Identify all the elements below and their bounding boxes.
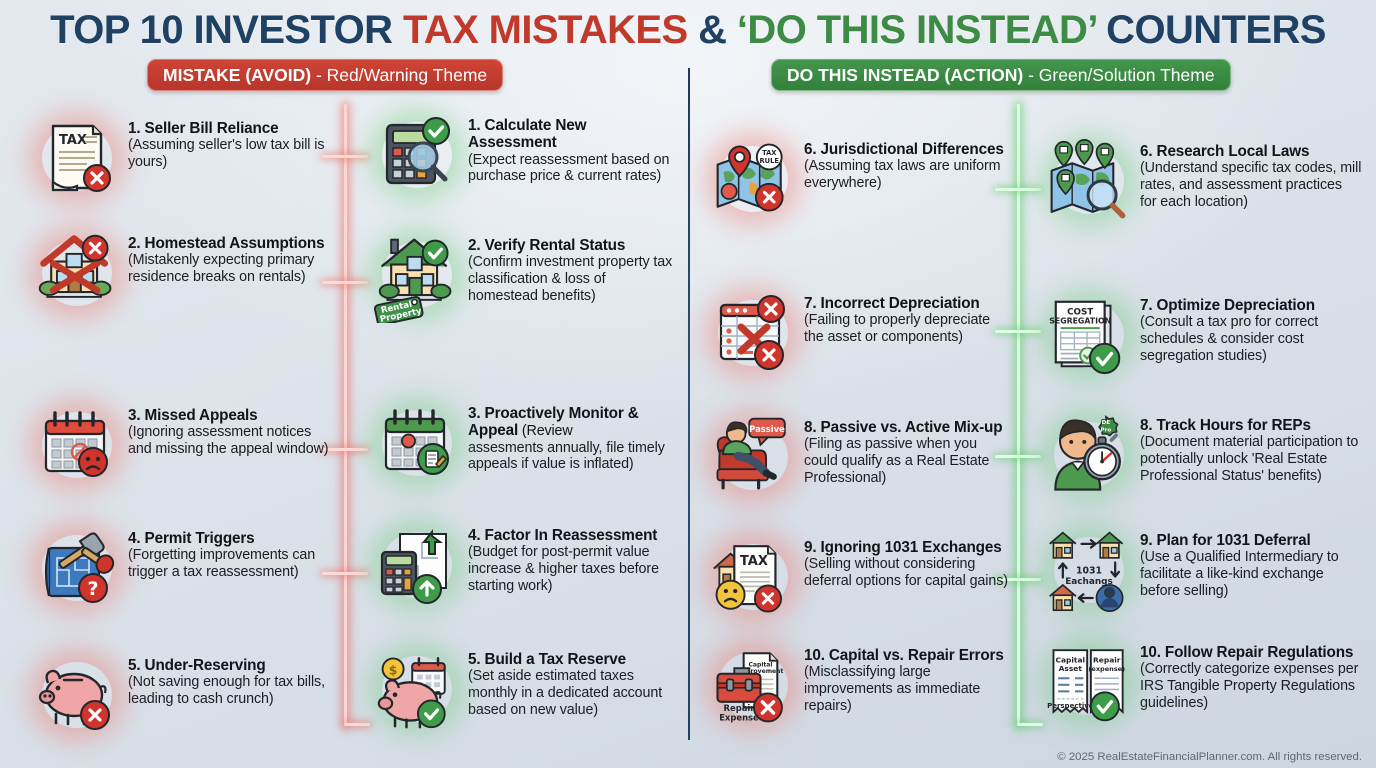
mistake-9-sub: (Selling without considering deferral op…: [804, 556, 1010, 589]
action-item-8[interactable]: DE Pro 8. Track Hours for REPs (Document…: [1046, 412, 1362, 498]
action-3-heading: 3. Proactively Monitor & Appeal (Review: [468, 405, 674, 440]
svg-text:Asset: Asset: [1059, 664, 1083, 673]
map-multi-pin-magnifier-icon: [1046, 138, 1132, 224]
action-9-heading: 9. Plan for 1031 Deferral: [1140, 532, 1362, 549]
mistake-2-sub: (Mistakenly expecting primary residence …: [128, 252, 334, 285]
mistake-10-sub: (Misclassifying large improvements as im…: [804, 664, 1010, 714]
blueprint-hammer-icon: ?: [34, 525, 120, 611]
mistake-4-sub: (Forgetting improvements can trigger a t…: [128, 547, 334, 580]
piggy-bank-icon: [34, 652, 120, 738]
calendar-icon: [34, 402, 120, 488]
mistake-4-text: 4. Permit Triggers (Forgetting improveme…: [128, 525, 334, 581]
action-7-sub: (Consult a tax pro for correct schedules…: [1140, 314, 1362, 364]
person-in-recliner-icon: Passive: [710, 414, 796, 500]
action-item-7[interactable]: COST SEGREGATION: [1046, 292, 1362, 378]
crossed-out-house-icon: [34, 230, 120, 316]
svg-text:Eachangs: Eachangs: [1065, 577, 1113, 587]
svg-text:Repair: Repair: [1093, 655, 1121, 664]
svg-text:Pro: Pro: [1100, 428, 1111, 434]
svg-text:Passive: Passive: [749, 424, 785, 434]
mistake-item-9[interactable]: TAX 9. Ignoring 1031 Exchanges (Selling …: [710, 534, 1010, 620]
title-part-amp: &: [688, 8, 737, 52]
mistake-7-text: 7. Incorrect Depreciation (Failing to pr…: [804, 290, 1010, 346]
action-6-text: 6. Research Local Laws (Understand speci…: [1140, 138, 1362, 210]
action-4-text: 4. Factor In Reassessment (Budget for po…: [468, 522, 674, 594]
svg-text:SEGREGATION: SEGREGATION: [1049, 316, 1111, 325]
banner-mistake-rest: - Red/Warning Theme: [311, 65, 487, 85]
title-part-instead: ‘DO THIS INSTEAD’: [737, 8, 1096, 52]
action-4-heading: 4. Factor In Reassessment: [468, 527, 674, 544]
svg-text:$: $: [389, 663, 398, 678]
svg-text:RULE: RULE: [760, 157, 780, 165]
mistake-6-heading: 6. Jurisdictional Differences: [804, 141, 1010, 158]
calculator-magnifier-icon: [374, 112, 460, 198]
action-3-heading-inline: (Review: [518, 423, 572, 439]
mistake-8-text: 8. Passive vs. Active Mix-up (Filing as …: [804, 414, 1010, 486]
calculator-blueprint-arrow-icon: [374, 522, 460, 608]
green-house-tag-icon: Rental Property: [374, 232, 460, 318]
action-6-heading: 6. Research Local Laws: [1140, 143, 1362, 160]
piggy-bank-coin-calendar-icon: $: [374, 646, 460, 732]
tax-document-house-icon: TAX: [710, 534, 796, 620]
mistake-3-sub: (Ignoring assessment notices and missing…: [128, 424, 334, 457]
action-8-sub: (Document material participation to pote…: [1140, 434, 1362, 484]
svg-text:(expense): (expense): [1088, 665, 1125, 673]
mistake-3-heading: 3. Missed Appeals: [128, 407, 334, 424]
mistake-item-5[interactable]: 5. Under-Reserving (Not saving enough fo…: [34, 652, 334, 738]
action-10-sub: (Correctly categorize expenses per IRS T…: [1140, 661, 1362, 711]
action-5-sub: (Set aside estimated taxes monthly in a …: [468, 668, 674, 718]
svg-text:DE: DE: [1102, 420, 1111, 426]
mistake-4-heading: 4. Permit Triggers: [128, 530, 334, 547]
mistake-9-text: 9. Ignoring 1031 Exchanges (Selling with…: [804, 534, 1010, 590]
mistake-item-4[interactable]: ? 4. Permit Triggers (Forgetting improve…: [34, 525, 334, 611]
action-1-text: 1. Calculate New Assessment (Expect reas…: [468, 112, 674, 185]
action-10-heading: 10. Follow Repair Regulations: [1140, 644, 1362, 661]
mistake-6-text: 6. Jurisdictional Differences (Assuming …: [804, 136, 1010, 192]
action-5-heading: 5. Build a Tax Reserve: [468, 651, 674, 668]
mistake-10-heading: 10. Capital vs. Repair Errors: [804, 647, 1010, 664]
mistake-2-text: 2. Homestead Assumptions (Mistakenly exp…: [128, 230, 334, 286]
green-calendar-note-icon: [374, 400, 460, 486]
page-title: TOP 10 INVESTOR TAX MISTAKES & ‘DO THIS …: [0, 0, 1376, 52]
toolbox-invoice-icon: Capital Improvement Repair Expense: [710, 642, 796, 728]
title-part-mistakes: TAX MISTAKES: [403, 8, 688, 52]
cost-segregation-document-icon: COST SEGREGATION: [1046, 292, 1132, 378]
mistake-5-sub: (Not saving enough for tax bills, leadin…: [128, 674, 334, 707]
tax-document-icon: TAX: [34, 115, 120, 201]
title-part-counters: COUNTERS: [1096, 8, 1326, 52]
action-item-5[interactable]: $: [374, 646, 674, 732]
action-2-text: 2. Verify Rental Status (Confirm investm…: [468, 232, 674, 304]
mistake-1-heading: 1. Seller Bill Reliance: [128, 120, 334, 137]
action-item-3[interactable]: 3. Proactively Monitor & Appeal (Review …: [374, 400, 674, 486]
svg-text:TAX: TAX: [740, 554, 768, 569]
action-4-sub: (Budget for post-permit value increase &…: [468, 544, 674, 594]
copyright-footer: © 2025 RealEstateFinancialPlanner.com. A…: [1057, 751, 1362, 763]
action-1-heading: 1. Calculate New Assessment: [468, 117, 674, 152]
action-item-1[interactable]: 1. Calculate New Assessment (Expect reas…: [374, 112, 674, 198]
action-10-text: 10. Follow Repair Regulations (Correctly…: [1140, 639, 1362, 711]
mistake-1-text: 1. Seller Bill Reliance (Assuming seller…: [128, 115, 334, 171]
action-9-text: 9. Plan for 1031 Deferral (Use a Qualifi…: [1140, 527, 1362, 599]
action-1-sub: (Expect reassessment based on purchase p…: [468, 152, 674, 185]
exchange-cycle-houses-icon: 1031 Eachangs: [1046, 527, 1132, 613]
mistake-10-text: 10. Capital vs. Repair Errors (Misclassi…: [804, 642, 1010, 714]
action-item-9[interactable]: 1031 Eachangs 9. Plan for 1031 Deferral …: [1046, 527, 1362, 613]
mistake-item-8[interactable]: Passive 8. Passive vs. Active Mix-up (Fi…: [710, 414, 1010, 500]
mistake-7-sub: (Failing to properly depreciate the asse…: [804, 312, 1010, 345]
banner-action-strong: DO THIS INSTEAD (ACTION): [787, 65, 1023, 85]
title-part-top10: TOP 10 INVESTOR: [50, 8, 403, 52]
action-3-sub: assesments annually, file timely appeals…: [468, 440, 674, 473]
mistake-item-7[interactable]: 7. Incorrect Depreciation (Failing to pr…: [710, 290, 1010, 376]
action-7-heading: 7. Optimize Depreciation: [1140, 297, 1362, 314]
mistake-item-2[interactable]: 2. Homestead Assumptions (Mistakenly exp…: [34, 230, 334, 316]
mistake-5-heading: 5. Under-Reserving: [128, 657, 334, 674]
svg-text:?: ?: [87, 578, 98, 600]
action-6-sub: (Understand specific tax codes, mill rat…: [1140, 160, 1362, 210]
spreadsheet-icon: [710, 290, 796, 376]
mistake-1-sub: (Assuming seller's low tax bill is yours…: [128, 137, 334, 170]
svg-text:TAX: TAX: [59, 133, 87, 148]
mistake-7-heading: 7. Incorrect Depreciation: [804, 295, 1010, 312]
mistake-5-text: 5. Under-Reserving (Not saving enough fo…: [128, 652, 334, 708]
action-item-2[interactable]: Rental Property 2. Verify Rental Status …: [374, 232, 674, 318]
svg-text:Expense: Expense: [719, 713, 759, 723]
action-item-10[interactable]: Capital Asset Perspective Repair (expens…: [1046, 639, 1362, 725]
mistake-8-heading: 8. Passive vs. Active Mix-up: [804, 419, 1010, 436]
professional-stopwatch-icon: DE Pro: [1046, 412, 1132, 498]
action-8-text: 8. Track Hours for REPs (Document materi…: [1140, 412, 1362, 484]
capital-asset-repair-receipts-icon: Capital Asset Perspective Repair (expens…: [1046, 639, 1132, 725]
mistake-9-heading: 9. Ignoring 1031 Exchanges: [804, 539, 1010, 556]
action-5-text: 5. Build a Tax Reserve (Set aside estima…: [468, 646, 674, 718]
svg-text:Perspective: Perspective: [1047, 701, 1094, 710]
mistake-6-sub: (Assuming tax laws are uniform everywher…: [804, 158, 1010, 191]
mistake-item-1[interactable]: TAX 1. Seller Bill Reliance (Assuming se…: [34, 115, 334, 201]
action-item-4[interactable]: 4. Factor In Reassessment (Budget for po…: [374, 522, 674, 608]
mistake-3-text: 3. Missed Appeals (Ignoring assessment n…: [128, 402, 334, 458]
world-map-pin-icon: TAX RULE: [710, 136, 796, 222]
mistake-item-6[interactable]: TAX RULE 6. Jurisdictional Differences (…: [710, 136, 1010, 222]
mistake-2-heading: 2. Homestead Assumptions: [128, 235, 334, 252]
banner-mistake: MISTAKE (AVOID) - Red/Warning Theme: [147, 59, 503, 91]
action-2-sub: (Confirm investment property tax classif…: [468, 254, 674, 304]
action-8-heading: 8. Track Hours for REPs: [1140, 417, 1362, 434]
action-9-sub: (Use a Qualified Intermediary to facilit…: [1140, 549, 1362, 599]
action-2-heading: 2. Verify Rental Status: [468, 237, 674, 254]
mistake-8-sub: (Filing as passive when you could qualif…: [804, 436, 1010, 486]
banner-mistake-strong: MISTAKE (AVOID): [163, 65, 311, 85]
banner-action-rest: - Green/Solution Theme: [1023, 65, 1214, 85]
banner-action: DO THIS INSTEAD (ACTION) - Green/Solutio…: [771, 59, 1231, 91]
svg-text:1031: 1031: [1076, 566, 1102, 577]
action-3-text: 3. Proactively Monitor & Appeal (Review …: [468, 400, 674, 473]
action-item-6[interactable]: 6. Research Local Laws (Understand speci…: [1046, 138, 1362, 224]
mistake-item-10[interactable]: Capital Improvement Repair Expense: [710, 642, 1010, 728]
action-7-text: 7. Optimize Depreciation (Consult a tax …: [1140, 292, 1362, 364]
mistake-item-3[interactable]: 3. Missed Appeals (Ignoring assessment n…: [34, 402, 334, 488]
content-board: TAX 1. Seller Bill Reliance (Assuming se…: [0, 112, 1376, 748]
